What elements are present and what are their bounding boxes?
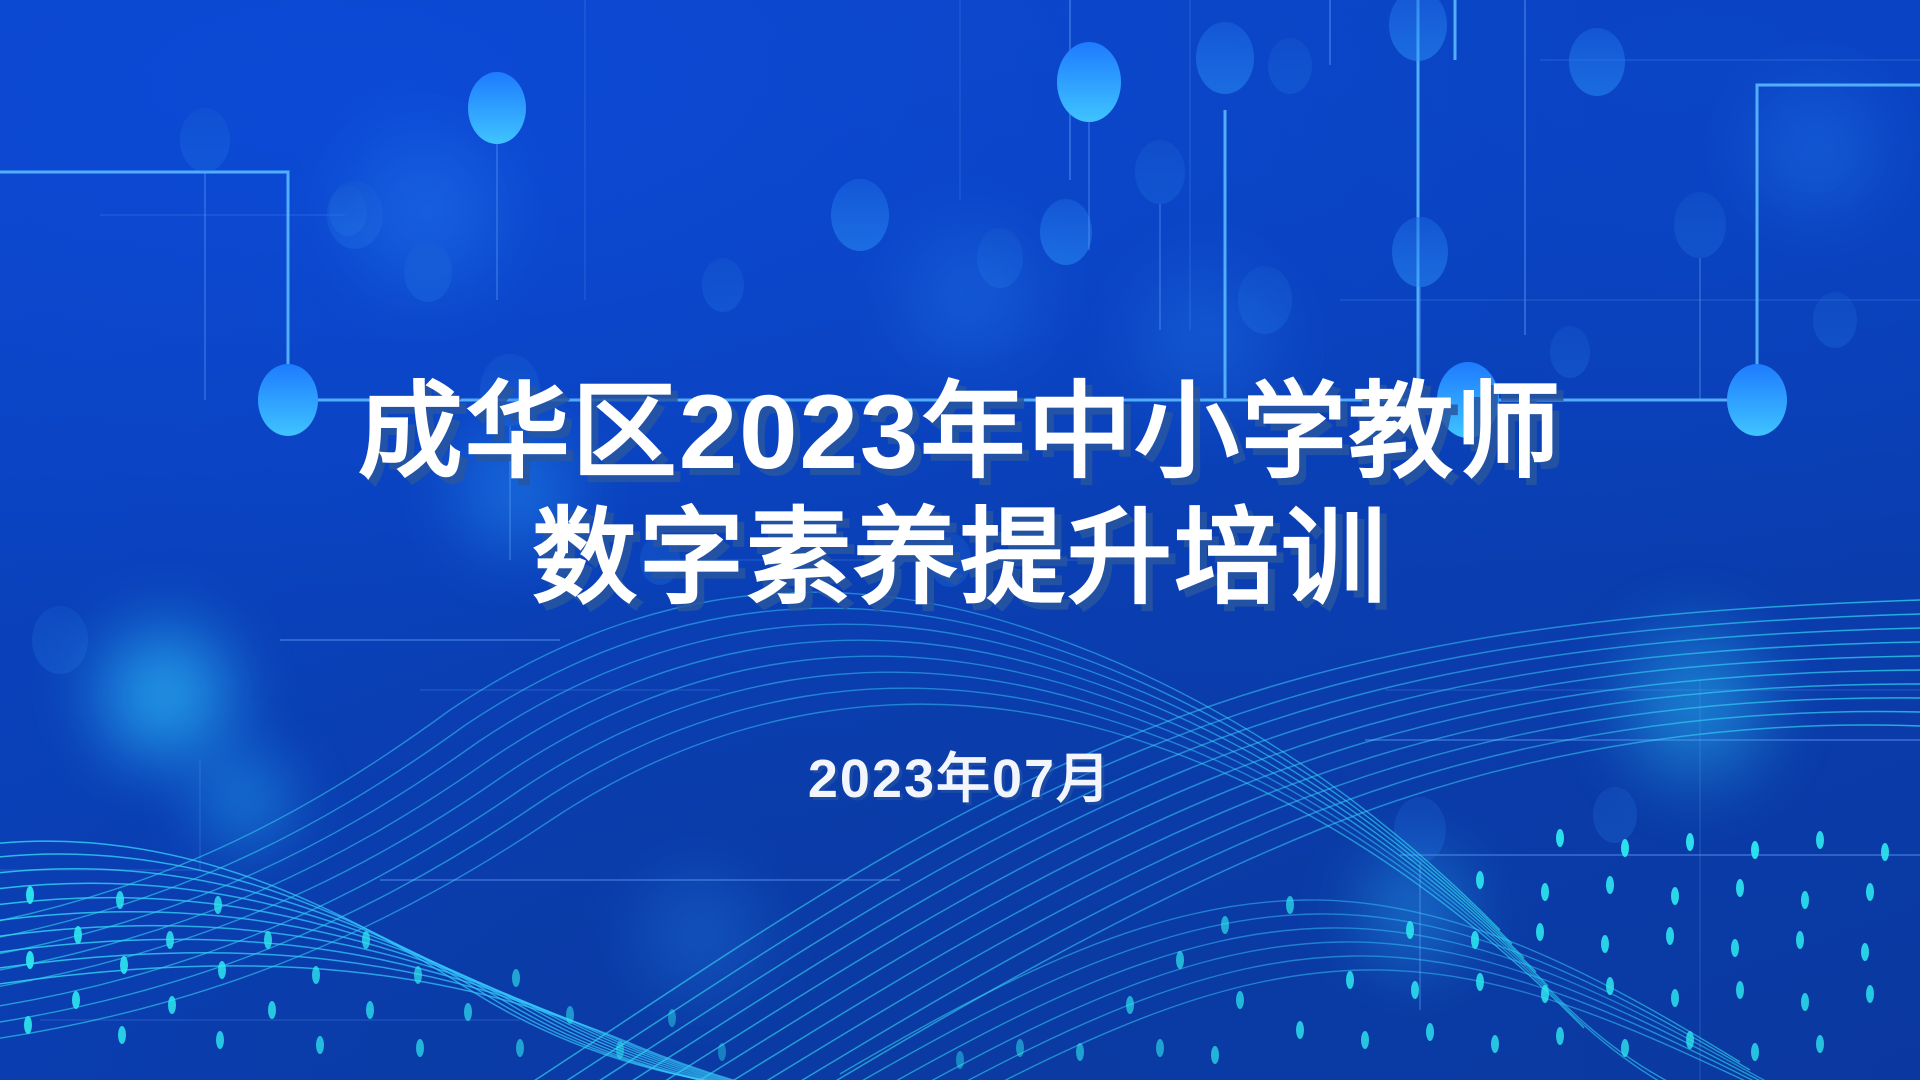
title-line-2: 数字素养提升培训 bbox=[358, 496, 1563, 622]
page-title: 成华区2023年中小学教师 数字素养提升培训 bbox=[358, 370, 1563, 622]
slide-content: 成华区2023年中小学教师 数字素养提升培训 2023年07月 bbox=[0, 0, 1920, 1080]
title-line-1: 成华区2023年中小学教师 bbox=[358, 370, 1563, 496]
slide-date: 2023年07月 bbox=[808, 734, 1112, 813]
title-slide: 成华区2023年中小学教师 数字素养提升培训 2023年07月 bbox=[0, 0, 1920, 1080]
